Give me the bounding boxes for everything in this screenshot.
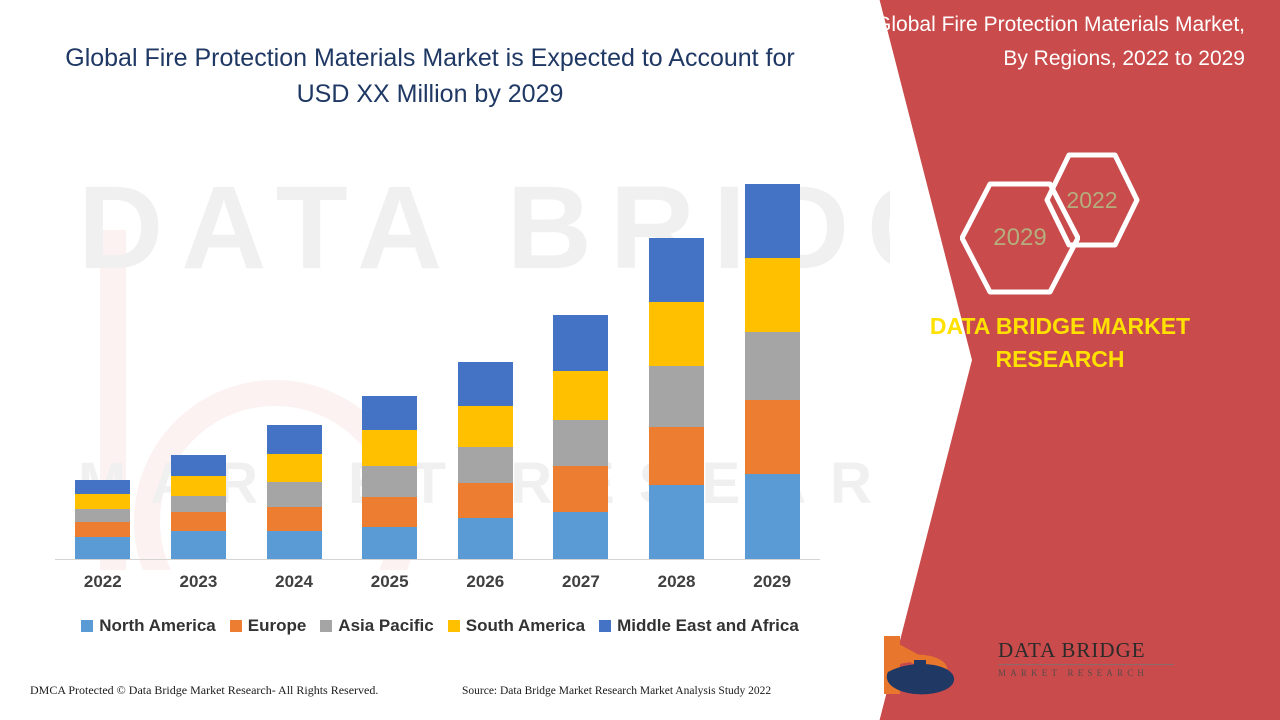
bar-segment bbox=[267, 425, 322, 454]
legend-item: South America bbox=[448, 616, 585, 636]
bar-segment bbox=[171, 512, 226, 531]
legend-swatch-icon bbox=[81, 620, 93, 632]
bar-segment bbox=[171, 455, 226, 476]
bar-segment bbox=[649, 485, 704, 559]
x-axis-label-2024: 2024 bbox=[247, 572, 342, 592]
x-axis-label-2029: 2029 bbox=[725, 572, 820, 592]
bar-segment bbox=[458, 406, 513, 447]
bar-segment bbox=[649, 366, 704, 427]
stacked-bar bbox=[745, 184, 800, 559]
bar-column-2024 bbox=[247, 170, 342, 559]
bar-segment bbox=[267, 531, 322, 559]
source-text: Source: Data Bridge Market Research Mark… bbox=[462, 685, 771, 697]
hexagon-2029-label: 2029 bbox=[993, 224, 1046, 252]
bar-segment bbox=[362, 466, 417, 497]
stacked-bar bbox=[458, 362, 513, 559]
stacked-bar bbox=[362, 396, 417, 559]
stacked-bar bbox=[553, 315, 608, 559]
bar-segment bbox=[553, 315, 608, 371]
bar-column-2029 bbox=[725, 170, 820, 559]
bar-segment bbox=[553, 466, 608, 512]
bar-segment bbox=[75, 522, 130, 537]
chart-area: Global Fire Protection Materials Market … bbox=[0, 0, 900, 720]
copyright-text: DMCA Protected © Data Bridge Market Rese… bbox=[30, 683, 378, 698]
bar-segment bbox=[267, 454, 322, 482]
right-panel-content: Global Fire Protection Materials Market,… bbox=[840, 0, 1280, 720]
legend-label: Asia Pacific bbox=[338, 616, 433, 636]
chart-legend: North AmericaEuropeAsia PacificSouth Ame… bbox=[55, 616, 825, 636]
bar-segment bbox=[362, 497, 417, 527]
bar-segment bbox=[745, 400, 800, 474]
legend-item: Middle East and Africa bbox=[599, 616, 799, 636]
x-axis-line bbox=[55, 559, 820, 560]
stacked-bar bbox=[171, 455, 226, 559]
hexagon-badges: 2029 2022 bbox=[960, 150, 1180, 290]
legend-swatch-icon bbox=[599, 620, 611, 632]
legend-item: Asia Pacific bbox=[320, 616, 433, 636]
legend-label: Middle East and Africa bbox=[617, 616, 799, 636]
bar-segment bbox=[649, 238, 704, 302]
logo-sub-text: MARKET RESEARCH bbox=[998, 668, 1178, 678]
stacked-bar bbox=[75, 480, 130, 559]
bar-column-2026 bbox=[438, 170, 533, 559]
legend-label: South America bbox=[466, 616, 585, 636]
bar-segment bbox=[171, 531, 226, 559]
bar-segment bbox=[171, 476, 226, 496]
bar-segment bbox=[75, 494, 130, 509]
hexagon-2022-label: 2022 bbox=[1066, 187, 1117, 214]
bar-segment bbox=[267, 507, 322, 531]
bar-segment bbox=[458, 518, 513, 559]
bar-segment bbox=[362, 527, 417, 559]
bar-segment bbox=[362, 430, 417, 466]
legend-item: Europe bbox=[230, 616, 307, 636]
x-axis-label-2027: 2027 bbox=[533, 572, 628, 592]
legend-item: North America bbox=[81, 616, 216, 636]
stacked-bar-group bbox=[55, 170, 820, 559]
bar-segment bbox=[553, 420, 608, 466]
bar-column-2022 bbox=[55, 170, 150, 559]
logo-mark-icon bbox=[870, 630, 990, 700]
bar-column-2023 bbox=[151, 170, 246, 559]
hexagon-2022: 2022 bbox=[1042, 150, 1142, 250]
bar-segment bbox=[553, 371, 608, 420]
x-axis-label-2025: 2025 bbox=[342, 572, 437, 592]
bar-segment bbox=[649, 302, 704, 366]
bar-column-2025 bbox=[342, 170, 437, 559]
legend-swatch-icon bbox=[448, 620, 460, 632]
bar-segment bbox=[458, 483, 513, 518]
brand-name: DATA BRIDGE MARKET RESEARCH bbox=[875, 310, 1245, 376]
bar-segment bbox=[553, 512, 608, 559]
bar-segment bbox=[745, 184, 800, 258]
logo-main-text: DATA BRIDGE bbox=[998, 638, 1178, 662]
x-axis-label-2026: 2026 bbox=[438, 572, 533, 592]
x-axis-label-2023: 2023 bbox=[151, 572, 246, 592]
stacked-bar bbox=[649, 238, 704, 559]
panel-title: Global Fire Protection Materials Market,… bbox=[875, 8, 1245, 76]
logo-wordmark: DATA BRIDGE MARKET RESEARCH bbox=[998, 638, 1178, 678]
x-axis-labels: 20222023202420252026202720282029 bbox=[55, 572, 820, 592]
bar-segment bbox=[75, 509, 130, 522]
chart-title: Global Fire Protection Materials Market … bbox=[60, 40, 800, 112]
bar-segment bbox=[458, 362, 513, 406]
bar-segment bbox=[171, 496, 226, 512]
bar-segment bbox=[362, 396, 417, 430]
bar-segment bbox=[458, 447, 513, 483]
legend-label: Europe bbox=[248, 616, 307, 636]
bar-segment bbox=[745, 332, 800, 400]
stacked-bar bbox=[267, 425, 322, 559]
bar-segment bbox=[75, 480, 130, 494]
x-axis-label-2028: 2028 bbox=[629, 572, 724, 592]
bar-column-2027 bbox=[533, 170, 628, 559]
bar-column-2028 bbox=[629, 170, 724, 559]
bar-segment bbox=[75, 537, 130, 559]
bar-segment bbox=[745, 474, 800, 559]
bar-segment bbox=[267, 482, 322, 507]
legend-swatch-icon bbox=[320, 620, 332, 632]
legend-label: North America bbox=[99, 616, 216, 636]
legend-swatch-icon bbox=[230, 620, 242, 632]
logo-divider bbox=[998, 664, 1174, 665]
infographic-page: DATA BRIDGE MARKET RESEARCH Global Fire … bbox=[0, 0, 1280, 720]
data-bridge-logo: DATA BRIDGE MARKET RESEARCH bbox=[870, 630, 1120, 700]
bar-segment bbox=[649, 427, 704, 485]
x-axis-label-2022: 2022 bbox=[55, 572, 150, 592]
bar-segment bbox=[745, 258, 800, 332]
